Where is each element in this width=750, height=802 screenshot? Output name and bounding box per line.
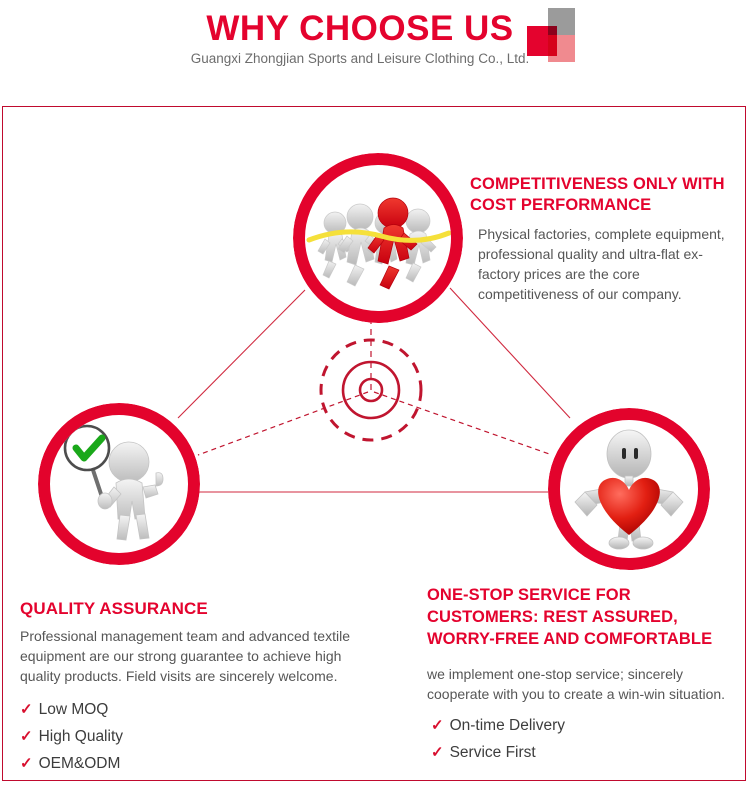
page-title: WHY CHOOSE US (0, 8, 720, 50)
list-item-label: OEM&ODM (39, 755, 121, 772)
block-body-quality: Professional management team and advance… (20, 626, 380, 686)
diagram-node-service[interactable] (548, 408, 710, 570)
list-item-label: High Quality (39, 728, 123, 745)
node-ring (548, 408, 710, 570)
check-icon: ✓ (431, 717, 444, 734)
block-title-quality: QUALITY ASSURANCE (20, 598, 388, 619)
list-item-label: Low MOQ (39, 701, 109, 718)
node-ring (38, 403, 200, 565)
block-body-competitiveness: Physical factories, complete equipment, … (478, 224, 728, 304)
check-icon: ✓ (20, 755, 33, 772)
list-item: ✓High Quality (20, 723, 388, 750)
feature-block-competitiveness: COMPETITIVENESS ONLY WITH COST PERFORMAN… (470, 174, 738, 304)
bullet-list-onestop: ✓On-time Delivery ✓Service First (431, 712, 739, 766)
list-item: ✓Low MOQ (20, 696, 388, 723)
check-icon: ✓ (431, 744, 444, 761)
logo-square-red (527, 26, 557, 56)
bullet-list-quality: ✓Low MOQ ✓High Quality ✓OEM&ODM (20, 696, 388, 777)
diagram-node-competitiveness[interactable] (293, 153, 463, 323)
list-item-label: On-time Delivery (450, 717, 565, 734)
brand-squares-logo (527, 8, 595, 70)
block-title-competitiveness: COMPETITIVENESS ONLY WITH COST PERFORMAN… (470, 174, 738, 216)
list-item: ✓OEM&ODM (20, 750, 388, 777)
diagram-node-quality[interactable] (38, 403, 200, 565)
feature-block-onestop-service: ONE-STOP SERVICE FOR CUSTOMERS: REST ASS… (427, 584, 739, 766)
check-icon: ✓ (20, 701, 33, 718)
list-item: ✓Service First (431, 739, 739, 766)
block-body-onestop: we implement one-stop service; sincerely… (427, 664, 732, 704)
block-title-onestop: ONE-STOP SERVICE FOR CUSTOMERS: REST ASS… (427, 584, 739, 650)
node-ring (293, 153, 463, 323)
check-icon: ✓ (20, 728, 33, 745)
company-name-subtitle: Guangxi Zhongjian Sports and Leisure Clo… (0, 50, 720, 68)
list-item: ✓On-time Delivery (431, 712, 739, 739)
feature-block-quality: QUALITY ASSURANCE Professional managemen… (20, 598, 388, 777)
list-item-label: Service First (450, 744, 536, 761)
target-rings-icon (318, 337, 424, 443)
page-header: WHY CHOOSE US Guangxi Zhongjian Sports a… (0, 0, 750, 92)
